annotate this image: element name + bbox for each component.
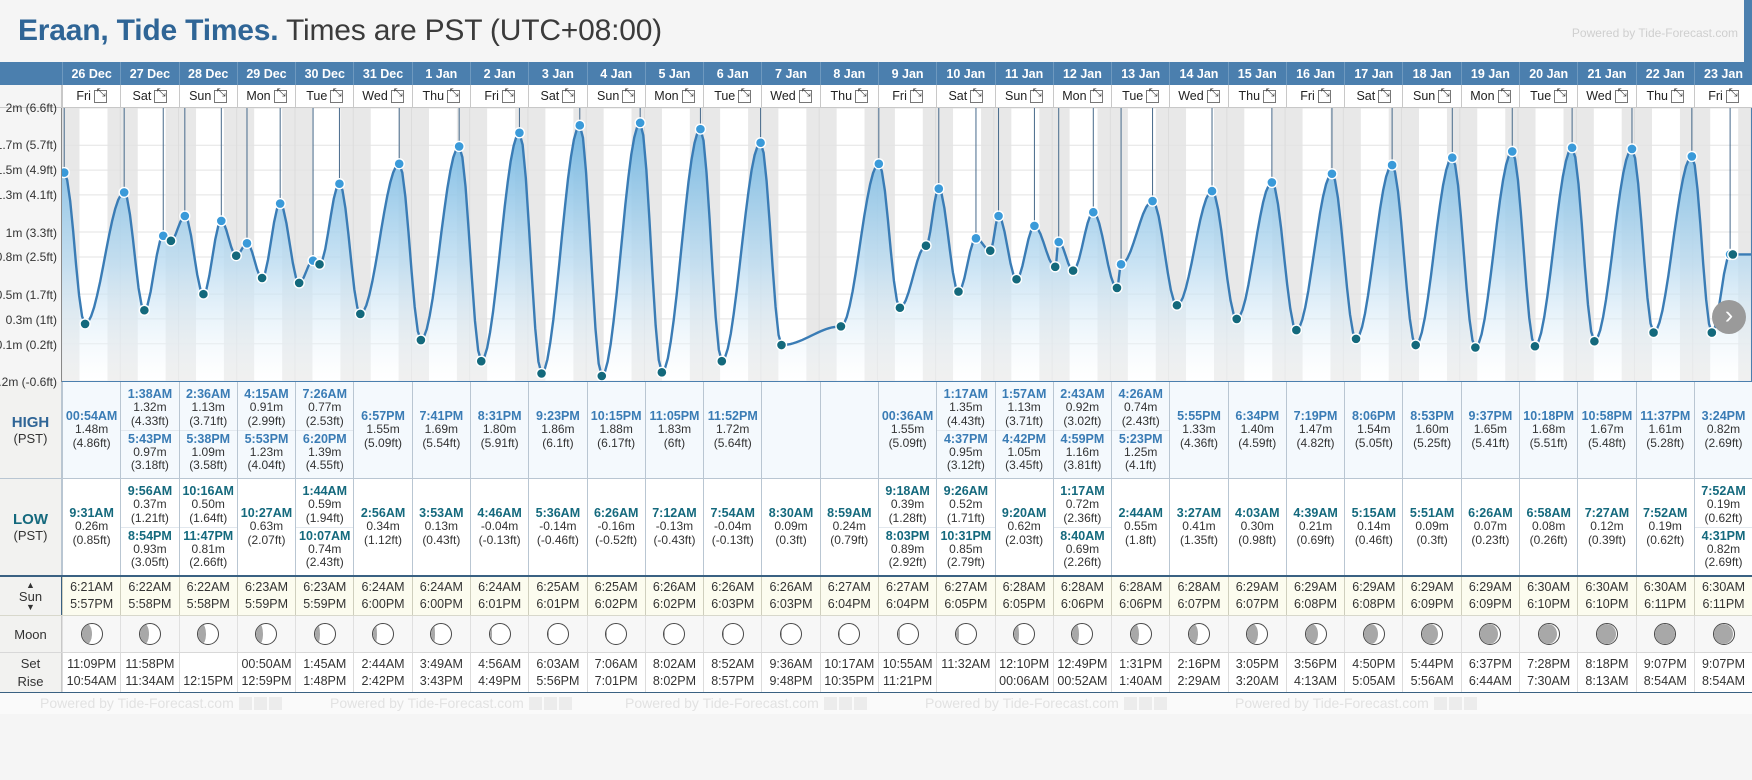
high-tide-time: 5:43PM (121, 432, 178, 446)
moon-shadow (1014, 624, 1019, 644)
tide-chart: 2m (6.6ft)1.7m (5.7ft)1.5m (4.9ft)1.3m (… (0, 108, 1752, 382)
low-tide-feet: (-0.13ft) (471, 534, 528, 548)
sunrise-time: 6:30AM (1702, 579, 1745, 596)
high-tide-feet: (6.1ft) (529, 437, 586, 451)
high-label-text: HIGH (12, 414, 50, 431)
sun-cell: 6:26AM6:03PM (703, 577, 761, 615)
sun-cell: 6:22AM5:58PM (120, 577, 178, 615)
sunset-time: 6:09PM (1411, 596, 1454, 613)
weekday-header-cell[interactable]: Sat (528, 85, 586, 107)
expand-icon[interactable] (1378, 90, 1391, 103)
high-tide-time: 10:58PM (1578, 409, 1635, 423)
low-tide-event: 4:31PM0.82m(2.69ft) (1695, 527, 1752, 572)
high-tide-cell: 1:57AM1.13m(3.71ft)4:42PM1.05m(3.45ft) (995, 382, 1053, 478)
moon-shadow (1597, 624, 1616, 644)
weekday-header-cell[interactable]: Sun (179, 85, 237, 107)
low-tide-meters: -0.04m (471, 520, 528, 534)
low-tide-cell: 7:12AM-0.13m(-0.43ft) (645, 479, 703, 575)
sunset-time: 5:59PM (303, 596, 346, 613)
expand-icon[interactable] (1090, 90, 1103, 103)
moon-cell (1461, 616, 1519, 652)
low-tide-event: 9:31AM0.26m(0.85ft) (63, 505, 120, 549)
weekday-header-cell[interactable]: Wed (1577, 85, 1635, 107)
sunrise-time: 6:24AM (478, 579, 521, 596)
high-tide-feet: (6.17ft) (588, 437, 645, 451)
high-tide-event: 1:17AM1.35m(4.43ft) (937, 386, 994, 430)
low-tide-time: 5:36AM (529, 506, 586, 520)
date-header-cell: 31 Dec (353, 62, 411, 85)
sunrise-time: 6:30AM (1644, 579, 1687, 596)
low-tide-feet: (2.79ft) (937, 556, 994, 570)
setrise-days: 11:09PM10:54AM11:58PM11:34AM 12:15PM00:5… (62, 653, 1752, 692)
date-header-cell: 26 Dec (62, 62, 120, 85)
moonrise-time: 8:02PM (653, 673, 696, 690)
weekday-header-cell[interactable]: Tue (703, 85, 761, 107)
high-tide-feet: (4.04ft) (238, 459, 295, 473)
moonset-time: 12:49PM (1057, 656, 1107, 673)
date-header-cell: 8 Jan (820, 62, 878, 85)
moonset-time: 6:03AM (536, 656, 579, 673)
high-tide-feet: (4.59ft) (1229, 437, 1286, 451)
moon-cell (878, 616, 936, 652)
expand-icon[interactable] (1671, 90, 1684, 103)
moon-phase-icon (430, 623, 452, 645)
high-tide-time: 11:37PM (1637, 409, 1694, 423)
expand-icon[interactable] (682, 90, 695, 103)
low-tide-feet: (1.35ft) (1170, 534, 1227, 548)
sunrise-time: 6:28AM (1177, 579, 1220, 596)
high-tide-time: 5:23PM (1112, 432, 1169, 446)
weekday-header-cell[interactable]: Fri (62, 85, 120, 107)
moon-phase-icon (1188, 623, 1210, 645)
weekday-header-cell[interactable]: Mon (1461, 85, 1519, 107)
powered-by-watermark: Powered by Tide-Forecast.com (925, 695, 1168, 711)
sunset-time: 6:05PM (944, 596, 987, 613)
expand-icon[interactable] (154, 90, 167, 103)
low-tide-cell: 9:18AM0.39m(1.28ft)8:03PM0.89m(2.92ft) (878, 479, 936, 575)
low-tide-cell: 8:59AM0.24m(0.79ft) (820, 479, 878, 575)
sunrise-time: 6:24AM (420, 579, 463, 596)
setrise-cell: 12:15PM (179, 653, 237, 692)
weekday-header-row: FriSatSunMonTueWedThuFriSatSunMonTueWedT… (0, 85, 1752, 108)
low-tide-event: 10:27AM0.63m(2.07ft) (238, 505, 295, 549)
high-tide-meters: 1.35m (937, 401, 994, 415)
high-label-tz: (PST) (14, 431, 48, 446)
sunset-time: 6:00PM (362, 596, 405, 613)
weekday-label: Mon (654, 89, 678, 103)
weekday-header-cell[interactable]: Fri (1286, 85, 1344, 107)
moonrise-time: 1:40AM (1119, 673, 1162, 690)
weekday-header-cell[interactable]: Tue (295, 85, 353, 107)
weekday-label: Sun (597, 89, 619, 103)
moonrise-time: 7:01PM (595, 673, 638, 690)
high-tide-feet: (6ft) (646, 437, 703, 451)
low-tide-meters: 0.93m (121, 543, 178, 557)
date-header-cell: 15 Jan (1228, 62, 1286, 85)
watermark-icon (254, 697, 267, 710)
expand-icon[interactable] (1438, 90, 1451, 103)
expand-icon[interactable] (1207, 90, 1220, 103)
low-tide-meters: 0.30m (1229, 520, 1286, 534)
moon-cell (587, 616, 645, 652)
high-tide-cell: 11:52PM1.72m(5.64ft) (703, 382, 761, 478)
low-tide-time: 4:46AM (471, 506, 528, 520)
low-tide-time: 2:44AM (1112, 506, 1169, 520)
moonrise-time: 00:52AM (1057, 673, 1107, 690)
weekday-header-cell[interactable]: Sun (995, 85, 1053, 107)
sun-cell: 6:30AM6:10PM (1577, 577, 1635, 615)
setrise-cell: 00:50AM12:59PM (237, 653, 295, 692)
low-tide-meters: 0.59m (296, 498, 353, 512)
y-axis-tick: 1.3m (4.1ft) (0, 188, 57, 202)
sunset-time: 6:03PM (769, 596, 812, 613)
high-tide-feet: (5.05ft) (1345, 437, 1402, 451)
weekday-header-cell[interactable]: Mon (645, 85, 703, 107)
high-tide-cell: 11:37PM1.61m(5.28ft) (1636, 382, 1694, 478)
moon-cell (353, 616, 411, 652)
moonrise-time: 11:34AM (125, 673, 174, 690)
moon-phase-icon (81, 623, 103, 645)
moon-days (62, 616, 1752, 652)
expand-icon[interactable] (970, 90, 983, 103)
sun-cell: 6:25AM6:02PM (587, 577, 645, 615)
weekday-header-cell[interactable]: Tue (1111, 85, 1169, 107)
low-tide-cell: 1:17AM0.72m(2.36ft)8:40AM0.69m(2.26ft) (1053, 479, 1111, 575)
expand-icon[interactable] (738, 90, 751, 103)
low-tide-feet: (1.8ft) (1112, 534, 1169, 548)
weekday-header-cell[interactable]: Sat (1344, 85, 1402, 107)
high-tide-feet: (3.71ft) (180, 415, 237, 429)
watermark-icon (1434, 697, 1447, 710)
expand-icon[interactable] (1726, 90, 1739, 103)
date-header-cell: 9 Jan (878, 62, 936, 85)
sunrise-time: 6:25AM (595, 579, 638, 596)
weekday-header-cell[interactable]: Fri (1694, 85, 1752, 107)
low-tide-feet: (0.3ft) (762, 534, 819, 548)
low-tide-feet: (0.69ft) (1287, 534, 1344, 548)
weekday-header-days: FriSatSunMonTueWedThuFriSatSunMonTueWedT… (62, 85, 1752, 107)
y-axis-tick: 0.5m (1.7ft) (0, 288, 57, 302)
low-tide-meters: 0.72m (1054, 498, 1111, 512)
date-header-cell: 28 Dec (179, 62, 237, 85)
sunset-time: 5:59PM (245, 596, 288, 613)
moon-shadow (548, 624, 550, 644)
sunrise-time: 6:29AM (1294, 579, 1337, 596)
watermark-icon (544, 697, 557, 710)
sun-cell: 6:28AM6:05PM (995, 577, 1053, 615)
expand-icon[interactable] (274, 90, 287, 103)
page-footer: Powered by Tide-Forecast.com Powered by … (0, 692, 1752, 714)
high-tide-feet: (3.12ft) (937, 459, 994, 473)
sunset-time: 6:06PM (1061, 596, 1104, 613)
sunset-time: 6:01PM (536, 596, 579, 613)
sun-cell: 6:27AM6:04PM (820, 577, 878, 615)
low-tide-event: 5:36AM-0.14m(-0.46ft) (529, 505, 586, 549)
moon-shadow (1655, 624, 1675, 644)
high-tide-cell: 4:26AM0.74m(2.43ft)5:23PM1.25m(4.1ft) (1111, 382, 1169, 478)
low-tide-cell: 9:56AM0.37m(1.21ft)8:54PM0.93m(3.05ft) (120, 479, 178, 575)
moonrise-time: 10:54AM (67, 673, 117, 690)
high-tide-meters: 1.86m (529, 423, 586, 437)
weekday-header-cell[interactable]: Thu (1636, 85, 1694, 107)
low-tide-event: 1:44AM0.59m(1.94ft) (296, 483, 353, 527)
moon-cell (237, 616, 295, 652)
low-tide-feet: (0.98ft) (1229, 534, 1286, 548)
expand-icon[interactable] (94, 90, 107, 103)
scrollbar-track[interactable] (1744, 0, 1752, 62)
low-tide-meters: 0.19m (1695, 498, 1752, 512)
sunrise-time: 6:22AM (187, 579, 230, 596)
weekday-header-cell[interactable]: Wed (761, 85, 819, 107)
moon-phase-icon (372, 623, 394, 645)
setrise-cell: 12:49PM00:52AM (1053, 653, 1111, 692)
high-tide-event: 7:26AM0.77m(2.53ft) (296, 386, 353, 430)
moon-shadow (1072, 624, 1078, 644)
weekday-header-cell[interactable]: Sun (1402, 85, 1460, 107)
moonrise-time: 7:30AM (1527, 673, 1570, 690)
sunrise-time: 6:28AM (1061, 579, 1104, 596)
weekday-header-cell[interactable]: Fri (470, 85, 528, 107)
weekday-header-cell[interactable]: Fri (878, 85, 936, 107)
low-tide-meters: 0.39m (879, 498, 936, 512)
high-tide-feet: (3.45ft) (996, 459, 1053, 473)
high-tide-label: HIGH (PST) (0, 382, 62, 478)
next-page-arrow[interactable]: › (1712, 300, 1746, 334)
powered-by-top: Powered by Tide-Forecast.com (1572, 26, 1738, 40)
setrise-cell: 3:56PM4:13AM (1286, 653, 1344, 692)
moonset-time: 9:07PM (1702, 656, 1745, 673)
low-tide-event: 7:54AM-0.04m(-0.13ft) (704, 505, 761, 549)
weekday-header-cell[interactable]: Sat (936, 85, 994, 107)
high-tide-feet: (5.09ft) (879, 437, 936, 451)
low-tide-section: LOW (PST) 9:31AM0.26m(0.85ft)9:56AM0.37m… (0, 478, 1752, 575)
moon-row: Moon (0, 615, 1752, 652)
weekday-header-cell[interactable]: Wed (353, 85, 411, 107)
sunrise-time: 6:22AM (128, 579, 171, 596)
weekday-header-cell[interactable]: Wed (1169, 85, 1227, 107)
moon-cell (1636, 616, 1694, 652)
expand-icon[interactable] (1146, 90, 1159, 103)
expand-icon[interactable] (562, 90, 575, 103)
high-tide-meters: 1.68m (1520, 423, 1577, 437)
powered-by-watermark: Powered by Tide-Forecast.com (330, 695, 573, 711)
high-tide-meters: 1.25m (1112, 446, 1169, 460)
low-tide-cell: 10:27AM0.63m(2.07ft) (237, 479, 295, 575)
low-tide-cell: 9:20AM0.62m(2.03ft) (995, 479, 1053, 575)
weekday-header-cell[interactable]: Mon (237, 85, 295, 107)
moon-phase-icon (489, 623, 511, 645)
expand-icon[interactable] (1263, 90, 1276, 103)
sunrise-time: 6:26AM (769, 579, 812, 596)
low-tide-meters: 0.34m (354, 520, 411, 534)
low-tide-feet: (2.26ft) (1054, 556, 1111, 570)
weekday-header-cell[interactable]: Thu (412, 85, 470, 107)
chart-plot-area[interactable] (62, 108, 1752, 382)
weekday-label: Mon (1062, 89, 1086, 103)
moonrise-time: 12:15PM (183, 673, 233, 690)
weekday-label: Fri (484, 89, 499, 103)
setrise-cell: 6:37PM6:44AM (1461, 653, 1519, 692)
high-tide-cell: 6:57PM1.55m(5.09ft) (353, 382, 411, 478)
expand-icon[interactable] (799, 90, 812, 103)
high-tide-time: 5:38PM (180, 432, 237, 446)
high-tide-time: 2:36AM (180, 387, 237, 401)
moonrise-time: 12:59PM (241, 673, 291, 690)
sun-cell: 6:24AM6:00PM (353, 577, 411, 615)
expand-icon[interactable] (1318, 90, 1331, 103)
watermark-icon (839, 697, 852, 710)
sun-label-text: Sun (19, 590, 42, 603)
weekday-label: Fri (892, 89, 907, 103)
moon-cell (761, 616, 819, 652)
expand-icon[interactable] (502, 90, 515, 103)
expand-icon[interactable] (330, 90, 343, 103)
low-tide-event: 4:39AM0.21m(0.69ft) (1287, 505, 1344, 549)
weekday-label: Thu (1646, 89, 1668, 103)
low-tide-feet: (1.94ft) (296, 512, 353, 526)
weekday-label: Sun (1005, 89, 1027, 103)
high-tide-feet: (3.81ft) (1054, 459, 1111, 473)
low-tide-cell: 2:44AM0.55m(1.8ft) (1111, 479, 1169, 575)
sunset-time: 5:58PM (128, 596, 171, 613)
expand-icon[interactable] (1615, 90, 1628, 103)
high-tide-event: 8:06PM1.54m(5.05ft) (1345, 408, 1402, 452)
sunrise-time: 6:23AM (303, 579, 346, 596)
low-tide-meters: 0.55m (1112, 520, 1169, 534)
high-tide-cell: 6:34PM1.40m(4.59ft) (1228, 382, 1286, 478)
setrise-cell: 5:44PM5:56AM (1402, 653, 1460, 692)
high-tide-cell: 1:17AM1.35m(4.43ft)4:37PM0.95m(3.12ft) (936, 382, 994, 478)
expand-icon[interactable] (1554, 90, 1567, 103)
sunrise-time: 6:27AM (886, 579, 929, 596)
high-tide-event: 9:37PM1.65m(5.41ft) (1462, 408, 1519, 452)
low-tide-cell: 4:46AM-0.04m(-0.13ft) (470, 479, 528, 575)
sun-row: ▲ Sun ▼ 6:21AM5:57PM6:22AM5:58PM6:22AM5:… (0, 575, 1752, 615)
low-tide-event: 2:44AM0.55m(1.8ft) (1112, 505, 1169, 549)
high-tide-time: 4:26AM (1112, 387, 1169, 401)
high-tide-feet: (5.54ft) (413, 437, 470, 451)
low-tide-cell: 6:58AM0.08m(0.26ft) (1519, 479, 1577, 575)
low-tide-feet: (0.46ft) (1345, 534, 1402, 548)
low-tide-event: 7:52AM0.19m(0.62ft) (1637, 505, 1694, 549)
weekday-label: Tue (1122, 89, 1143, 103)
expand-icon[interactable] (910, 90, 923, 103)
high-tide-time: 00:36AM (879, 409, 936, 423)
weekday-label: Tue (1530, 89, 1551, 103)
moon-shadow (956, 624, 959, 644)
date-header-cell: 12 Jan (1053, 62, 1111, 85)
moon-cell (645, 616, 703, 652)
moonrise-time: 2:29AM (1177, 673, 1220, 690)
low-tide-event: 4:03AM0.30m(0.98ft) (1229, 505, 1286, 549)
weekday-header-cell[interactable]: Thu (820, 85, 878, 107)
sun-cell: 6:30AM6:11PM (1694, 577, 1752, 615)
high-tide-feet: (5.25ft) (1403, 437, 1460, 451)
low-tide-time: 10:27AM (238, 506, 295, 520)
moon-shadow (898, 624, 900, 644)
date-header-cell: 23 Jan (1694, 62, 1752, 85)
watermark-icon (1154, 697, 1167, 710)
moonset-time: 2:16PM (1177, 656, 1220, 673)
moonset-time: 00:50AM (241, 656, 291, 673)
sunrise-time: 6:24AM (362, 579, 405, 596)
weekday-header-cell[interactable]: Tue (1519, 85, 1577, 107)
high-tide-time: 1:57AM (996, 387, 1053, 401)
weekday-header-cell[interactable]: Sun (587, 85, 645, 107)
moon-phase-icon (1596, 623, 1618, 645)
expand-icon[interactable] (391, 90, 404, 103)
moon-shadow (431, 624, 434, 644)
sun-cell: 6:21AM5:57PM (62, 577, 120, 615)
weekday-label: Fri (1300, 89, 1315, 103)
low-tide-event: 6:26AM0.07m(0.23ft) (1462, 505, 1519, 549)
low-tide-feet: (1.64ft) (180, 512, 237, 526)
expand-icon[interactable] (1030, 90, 1043, 103)
expand-icon[interactable] (855, 90, 868, 103)
weekday-header-cell[interactable]: Mon (1053, 85, 1111, 107)
low-tide-event: 9:20AM0.62m(2.03ft) (996, 505, 1053, 549)
weekday-header-cell[interactable]: Thu (1228, 85, 1286, 107)
moon-phase-icon (255, 623, 277, 645)
low-tide-feet: (3.05ft) (121, 556, 178, 570)
high-tide-meters: 1.23m (238, 446, 295, 460)
moonset-time: 11:58PM (125, 656, 174, 673)
low-tide-event: 4:46AM-0.04m(-0.13ft) (471, 505, 528, 549)
high-tide-event: 5:55PM1.33m(4.36ft) (1170, 408, 1227, 452)
expand-icon[interactable] (447, 90, 460, 103)
moon-shadow (1364, 624, 1378, 644)
setrise-cell: 9:07PM8:54AM (1694, 653, 1752, 692)
low-tide-time: 7:12AM (646, 506, 703, 520)
sunset-time: 6:03PM (711, 596, 754, 613)
expand-icon[interactable] (1498, 90, 1511, 103)
high-tide-time: 4:37PM (937, 432, 994, 446)
moonrise-time: 5:56AM (1411, 673, 1454, 690)
moonrise-time: 4:13AM (1294, 673, 1337, 690)
moon-phase-icon (547, 623, 569, 645)
date-header-cell: 27 Dec (120, 62, 178, 85)
low-tide-event: 10:31PM0.85m(2.79ft) (937, 527, 994, 572)
date-header-cell: 14 Jan (1169, 62, 1227, 85)
expand-icon[interactable] (214, 90, 227, 103)
date-header-row: 26 Dec27 Dec28 Dec29 Dec30 Dec31 Dec1 Ja… (0, 62, 1752, 85)
high-tide-feet: (2.69ft) (1695, 437, 1752, 451)
high-tide-time: 9:37PM (1462, 409, 1519, 423)
low-tide-cell: 9:26AM0.52m(1.71ft)10:31PM0.85m(2.79ft) (936, 479, 994, 575)
low-tide-cell: 4:39AM0.21m(0.69ft) (1286, 479, 1344, 575)
moonset-time: 4:56AM (478, 656, 521, 673)
moon-setrise-row: Set Rise 11:09PM10:54AM11:58PM11:34AM 12… (0, 652, 1752, 692)
high-tide-event: 4:37PM0.95m(3.12ft) (937, 430, 994, 475)
setrise-cell: 10:17AM10:35PM (820, 653, 878, 692)
low-tide-event: 2:56AM0.34m(1.12ft) (354, 505, 411, 549)
high-tide-meters: 1.16m (1054, 446, 1111, 460)
moonset-time: 3:56PM (1294, 656, 1337, 673)
low-tide-time: 9:18AM (879, 484, 936, 498)
high-tide-event: 9:23PM1.86m(6.1ft) (529, 408, 586, 452)
moon-phase-icon (197, 623, 219, 645)
high-tide-meters: 1.13m (996, 401, 1053, 415)
moon-shadow (256, 624, 263, 644)
expand-icon[interactable] (622, 90, 635, 103)
sunrise-time: 6:26AM (711, 579, 754, 596)
weekday-header-cell[interactable]: Sat (120, 85, 178, 107)
tide-forecast-page: Eraan, Tide Times. Times are PST (UTC+08… (0, 0, 1752, 780)
high-tide-time: 6:34PM (1229, 409, 1286, 423)
moon-cell (820, 616, 878, 652)
watermark-icon (269, 697, 282, 710)
high-tide-event: 4:59PM1.16m(3.81ft) (1054, 430, 1111, 475)
